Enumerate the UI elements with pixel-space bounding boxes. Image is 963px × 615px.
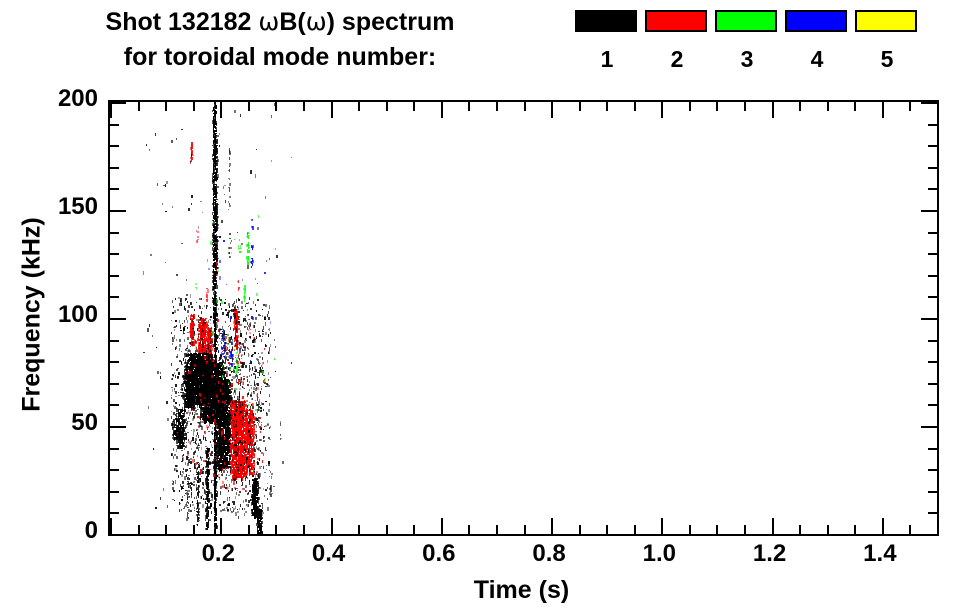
spectrogram-pixel <box>229 166 231 167</box>
spectrogram-pixel <box>213 240 215 243</box>
spectrogram-pixel <box>213 286 214 287</box>
spectrogram-pixel <box>213 146 214 148</box>
spectrogram-pixel <box>213 184 214 187</box>
spectrogram-pixel <box>239 239 240 241</box>
spectrogram-pixel <box>178 437 179 438</box>
spectrogram-pixel <box>267 498 268 499</box>
spectrogram-pixel <box>216 163 217 166</box>
spectrogram-pixel <box>245 404 246 405</box>
spectrogram-pixel <box>230 242 231 244</box>
spectrogram-pixel <box>216 201 217 202</box>
spectrogram-pixel <box>213 119 215 121</box>
spectrogram-pixel <box>248 235 250 239</box>
spectrogram-pixel <box>191 157 193 160</box>
spectrogram-pixel <box>208 325 210 326</box>
spectrogram-pixel <box>216 292 217 294</box>
spectrogram-pixel <box>213 226 215 229</box>
spectrogram-pixel <box>224 362 226 363</box>
spectrogram-pixel <box>240 251 241 253</box>
spectrogram-pixel <box>262 526 264 528</box>
spectrogram-pixel <box>257 227 258 230</box>
spectrogram-pixel <box>268 464 269 466</box>
spectrogram-pixel <box>188 513 189 514</box>
spectrogram-pixel <box>188 208 190 210</box>
spectrogram-pixel <box>191 154 193 157</box>
spectrogram-pixel <box>165 211 167 212</box>
spectrogram-pixel <box>214 430 216 431</box>
spectrogram-pixel <box>208 479 209 481</box>
spectrogram-pixel <box>199 359 200 362</box>
spectrogram-pixel <box>208 527 209 528</box>
spectrogram-pixel <box>217 204 219 206</box>
spectrogram-pixel <box>214 372 215 375</box>
spectrogram-pixel <box>188 475 190 476</box>
spectrogram-pixel <box>257 479 258 481</box>
spectrogram-pixel <box>186 445 187 448</box>
legend-label-mode-4: 4 <box>785 48 849 71</box>
spectrogram-pixel <box>235 414 236 417</box>
spectrogram-pixel <box>152 335 154 337</box>
spectrogram-pixel <box>216 170 218 172</box>
spectrogram-pixel <box>216 123 217 126</box>
spectrogram-pixel <box>207 467 209 470</box>
spectrogram-pixel <box>208 472 210 475</box>
spectrogram-pixel <box>217 240 219 242</box>
spectrogram-pixel <box>225 321 226 323</box>
spectrogram-pixel <box>197 240 198 242</box>
spectrogram-pixel <box>172 206 173 208</box>
spectrogram-pixel <box>217 469 218 472</box>
spectrogram-pixel <box>216 502 217 504</box>
spectrogram-pixel <box>188 517 189 519</box>
spectrogram-pixel <box>216 141 218 143</box>
spectrogram-pixel <box>193 452 194 455</box>
spectrogram-pixel <box>207 298 208 301</box>
spectrogram-pixel <box>179 509 180 512</box>
spectrogram-pixel <box>248 247 249 248</box>
spectrogram-pixel <box>271 493 273 494</box>
spectrogram-pixel <box>197 231 199 234</box>
spectrogram-pixel <box>229 178 230 180</box>
spectrogram-pixel <box>230 256 231 258</box>
spectrogram-pixel <box>214 178 215 181</box>
spectrogram-pixel <box>191 147 192 148</box>
spectrogram-pixel <box>185 493 186 494</box>
spectrogram-pixel <box>252 229 253 230</box>
spectrogram-pixel <box>213 312 214 313</box>
spectrogram-pixel <box>171 140 173 143</box>
spectrogram-pixel <box>217 159 218 162</box>
spectrogram-pixel <box>215 514 217 517</box>
spectrogram-pixel <box>217 177 218 178</box>
spectrogram-pixel <box>185 462 187 465</box>
spectrogram-pixel <box>238 473 240 475</box>
spectrogram-pixel <box>267 507 269 510</box>
plot-area <box>110 102 937 534</box>
spectrogram-pixel <box>186 299 187 300</box>
spectrogram-pixel <box>274 339 275 341</box>
spectrogram-pixel <box>224 194 225 196</box>
spectrogram-pixel <box>216 274 217 276</box>
spectrogram-pixel <box>244 318 245 321</box>
spectrogram-pixel <box>231 388 232 389</box>
spectrogram-pixel <box>198 520 199 521</box>
spectrogram-pixel <box>194 510 196 511</box>
spectrogram-pixel <box>198 320 199 323</box>
spectrogram-pixel <box>178 395 180 397</box>
spectrogram-pixel <box>238 516 239 519</box>
spectrogram-pixel <box>222 326 223 329</box>
spectrogram-pixel <box>176 274 178 276</box>
spectrogram-pixel <box>215 133 217 134</box>
spectrogram-pixel <box>237 232 238 233</box>
spectrogram-pixel <box>149 324 150 327</box>
spectrogram-pixel <box>231 379 233 381</box>
spectrogram-pixel <box>269 258 270 259</box>
spectrogram-pixel <box>265 196 266 199</box>
spectrogram-pixel <box>229 445 231 448</box>
spectrogram-pixel <box>197 239 198 240</box>
spectrogram-pixel <box>230 420 232 421</box>
spectrogram-pixel <box>177 437 178 440</box>
spectrogram-pixel <box>213 155 215 157</box>
spectrogram-pixel <box>167 418 169 421</box>
spectrogram-pixel <box>174 372 176 374</box>
spectrogram-pixel <box>188 507 190 508</box>
spectrogram-pixel <box>234 349 235 351</box>
spectrogram-pixel <box>196 488 197 491</box>
spectrogram-pixel <box>215 477 217 479</box>
spectrogram-pixel <box>153 448 154 450</box>
spectrogram-pixel <box>219 504 221 506</box>
spectrogram-pixel <box>188 305 190 309</box>
plot-frame <box>108 100 939 536</box>
spectrogram-pixel <box>254 352 256 353</box>
spectrogram-pixel <box>262 521 264 524</box>
spectrogram-pixel <box>268 409 270 412</box>
legend: 12345 <box>575 10 955 90</box>
spectrogram-pixel <box>216 181 217 183</box>
legend-item-mode-4: 4 <box>785 10 849 71</box>
spectrogram-pixel <box>212 447 214 448</box>
spectrogram-pixel <box>201 311 202 314</box>
spectrogram-pixel <box>143 352 145 353</box>
spectrogram-pixel <box>216 280 217 283</box>
spectrogram-pixel <box>263 440 265 442</box>
spectrogram-pixel <box>174 440 175 441</box>
spectrogram-pixel <box>219 297 220 300</box>
spectrogram-pixel <box>213 257 215 258</box>
spectrogram-pixel <box>150 254 152 256</box>
spectrogram-pixel <box>166 401 168 403</box>
spectrogram-pixel <box>217 525 218 526</box>
spectrogram-pixel <box>241 301 242 303</box>
spectrogram-pixel <box>182 407 184 410</box>
spectrogram-pixel <box>271 160 273 162</box>
spectrogram-pixel <box>240 420 241 421</box>
spectrogram-pixel <box>225 501 226 502</box>
spectrogram-pixel <box>217 249 219 250</box>
spectrogram-pixel <box>198 517 200 519</box>
spectrogram-pixel <box>217 186 219 188</box>
spectrogram-pixel <box>219 145 220 147</box>
spectrogram-pixel <box>180 325 181 328</box>
omega-symbol-1: ω <box>258 7 279 36</box>
spectrogram-pixel <box>229 153 230 155</box>
spectrogram-pixel <box>247 265 249 269</box>
spectrogram-pixel <box>175 414 177 416</box>
spectrogram-pixel <box>213 273 215 275</box>
spectrogram-pixel <box>216 517 217 520</box>
spectrogram-pixel <box>205 461 207 462</box>
spectrogram-pixel <box>194 324 196 326</box>
spectrogram-pixel <box>207 291 208 293</box>
spectrogram-pixel <box>217 135 218 137</box>
spectrogram-pixel <box>214 532 215 534</box>
spectrogram-pixel <box>213 259 214 261</box>
spectrogram-pixel <box>206 318 207 319</box>
spectrogram-pixel <box>266 345 267 347</box>
spectrogram-pixel <box>262 532 264 534</box>
spectrogram-pixel <box>216 192 218 194</box>
spectrogram-pixel <box>182 323 184 324</box>
spectrogram-pixel <box>160 372 161 374</box>
legend-label-mode-1: 1 <box>575 48 639 71</box>
spectrogram-pixel <box>213 163 215 166</box>
spectrogram-pixel <box>165 262 166 263</box>
spectrogram-pixel <box>200 201 202 202</box>
spectrogram-pixel <box>264 472 265 473</box>
spectrogram-pixel <box>247 384 249 386</box>
spectrogram-pixel <box>219 370 220 372</box>
spectrogram-pixel <box>224 185 225 186</box>
spectrogram-pixel <box>238 494 240 496</box>
spectrogram-pixel <box>260 427 262 430</box>
spectrogram-pixel <box>201 381 202 382</box>
spectrogram-pixel <box>192 144 193 146</box>
spectrogram-pixel <box>213 292 215 295</box>
spectrogram-pixel <box>149 149 151 151</box>
spectrogram-pixel <box>255 340 256 343</box>
spectrogram-pixel <box>236 330 237 331</box>
spectrogram-pixel <box>146 144 148 145</box>
spectrogram-pixel <box>280 421 282 424</box>
legend-item-mode-3: 3 <box>715 10 779 71</box>
spectrogram-pixel <box>234 110 236 113</box>
spectrogram-pixel <box>173 490 174 492</box>
legend-item-mode-5: 5 <box>855 10 919 71</box>
spectrogram-pixel <box>217 224 219 226</box>
spectrogram-pixel <box>222 411 223 413</box>
spectrogram-pixel <box>209 458 210 460</box>
spectrogram-pixel <box>229 196 230 199</box>
spectrogram-pixel <box>227 497 228 500</box>
spectrogram-pixel <box>190 353 191 356</box>
spectrogram-pixel <box>195 283 197 285</box>
spectrogram-pixel <box>165 184 166 187</box>
spectrogram-pixel <box>167 505 168 508</box>
spectrogram-pixel <box>175 320 177 321</box>
spectrogram-pixel <box>276 255 277 258</box>
legend-label-mode-5: 5 <box>855 48 919 71</box>
spectrogram-pixel <box>229 331 230 332</box>
spectrogram-pixel <box>216 305 218 307</box>
spectrogram-pixel <box>215 105 216 108</box>
spectrogram-pixel <box>176 425 177 427</box>
spectrogram-pixel <box>197 455 198 457</box>
spectrogram-pixel <box>186 294 188 296</box>
spectrogram-pixel <box>198 511 200 513</box>
spectrogram-pixel <box>216 268 217 271</box>
spectrogram-pixel <box>196 474 198 475</box>
spectrogram-pixel <box>179 303 181 306</box>
spectrogram-pixel <box>229 157 231 160</box>
spectrogram-pixel <box>216 498 217 501</box>
spectrogram-pixel <box>198 521 199 522</box>
spectrogram-pixel <box>209 519 211 522</box>
spectrogram-pixel <box>281 438 282 440</box>
spectrogram-pixel <box>181 243 183 245</box>
spectrogram-pixel <box>194 323 195 324</box>
spectrogram-pixel <box>238 289 239 291</box>
legend-swatch-mode-3 <box>715 10 777 32</box>
spectrogram-pixel <box>242 279 244 281</box>
spectrogram-pixel <box>214 432 216 434</box>
spectrogram-pixel <box>147 328 149 332</box>
spectrogram-pixel <box>187 310 188 312</box>
spectrogram-pixel <box>156 347 157 348</box>
spectrogram-pixel <box>217 258 218 259</box>
spectrogram-pixel <box>180 330 182 331</box>
legend-item-mode-1: 1 <box>575 10 639 71</box>
spectrogram-pixel <box>182 471 184 473</box>
spectrogram-pixel <box>221 220 223 223</box>
spectrogram-pixel <box>213 110 214 111</box>
spectrogram-pixel <box>193 481 195 483</box>
spectrogram-pixel <box>216 295 217 297</box>
spectrogram-pixel <box>249 381 251 382</box>
spectrogram-pixel <box>216 212 217 215</box>
spectrogram-pixel <box>178 428 179 431</box>
spectrogram-pixel <box>230 318 231 321</box>
spectrogram-pixel <box>262 508 264 509</box>
spectrogram-pixel <box>215 154 217 155</box>
spectrogram-pixel <box>162 203 163 205</box>
spectrogram-pixel <box>275 346 276 348</box>
chart-title-line1: Shot 132182 ωB(ω) spectrum <box>0 4 560 40</box>
spectrogram-pixel <box>226 398 227 399</box>
spectrogram-pixel <box>271 115 272 118</box>
spectrogram-pixel <box>198 494 199 498</box>
spectrogram-pixel <box>228 209 230 211</box>
spectrogram-pixel <box>241 243 243 244</box>
spectrogram-pixel <box>207 511 209 513</box>
spectrogram-pixel <box>253 345 255 347</box>
spectrogram-pixel <box>160 497 161 501</box>
spectrogram-pixel <box>208 515 209 517</box>
spectrogram-pixel <box>267 360 268 363</box>
spectrogram-pixel <box>253 436 255 440</box>
spectrogram-pixel <box>190 412 191 414</box>
spectrogram-pixel <box>196 413 198 415</box>
spectrogram-pixel <box>180 410 181 412</box>
spectrogram-pixel <box>248 250 250 253</box>
spectrogram-pixel <box>217 252 218 255</box>
spectrogram-pixel <box>157 371 158 374</box>
spectrogram-pixel <box>258 503 259 504</box>
chart-title-line2: for toroidal mode number: <box>0 40 560 75</box>
spectrogram-pixel <box>184 413 185 416</box>
spectrogram-pixel <box>257 283 258 284</box>
legend-swatch-mode-1 <box>575 10 637 32</box>
spectrogram-pixel <box>172 339 173 341</box>
spectrogram-pixel <box>213 113 215 114</box>
spectrogram-pixel <box>252 248 253 250</box>
spectrogram-pixel <box>189 389 190 391</box>
spectrogram-pixel <box>229 171 230 172</box>
spectrogram-pixel <box>193 432 194 435</box>
legend-item-mode-2: 2 <box>645 10 709 71</box>
spectrogram-pixel <box>240 245 241 247</box>
spectrogram-pixel <box>211 336 212 337</box>
spectrogram-pixel <box>243 500 244 503</box>
spectrogram-pixel <box>252 219 253 221</box>
spectrogram-pixel <box>222 444 223 446</box>
spectrogram-pixel <box>240 346 242 348</box>
spectrogram-pixel <box>270 490 272 492</box>
spectrogram-pixel <box>176 470 178 472</box>
spectrogram-pixel <box>197 236 199 238</box>
spectrogram-pixel <box>157 183 158 186</box>
spectrogram-pixel <box>235 361 236 363</box>
spectrogram-pixel <box>291 157 292 159</box>
spectrogram-pixel <box>218 360 219 361</box>
spectrogram-pixel <box>196 468 198 470</box>
spectrogram-pixel <box>250 308 251 309</box>
spectrogram-pixel <box>261 517 263 519</box>
spectrogram-pixel <box>251 355 253 356</box>
spectrogram-pixel <box>239 248 241 249</box>
spectrogram-pixel <box>181 351 182 352</box>
spectrogram-pixel <box>191 203 192 205</box>
spectrogram-pixel <box>229 346 231 348</box>
spectrogram-pixel <box>213 279 214 282</box>
spectrogram-pixel <box>229 190 230 192</box>
spectrogram-pixel <box>270 494 272 497</box>
spectrogram-pixel <box>235 446 236 448</box>
spectrogram-pixel <box>230 247 232 249</box>
spectrogram-pixel <box>179 404 180 407</box>
spectrogram-pixel <box>212 180 213 182</box>
spectrogram-pixel <box>166 181 168 184</box>
spectrogram-pixel <box>180 429 181 431</box>
spectrogram-pixel <box>246 400 247 402</box>
spectrogram-pixel <box>193 353 194 356</box>
spectrogram-pixel <box>244 513 245 515</box>
spectrogram-pixel <box>234 421 236 422</box>
spectrogram-pixel <box>198 226 199 229</box>
spectrogram-pixel <box>216 265 217 266</box>
spectrogram-pixel <box>208 489 209 492</box>
spectrogram-pixel <box>155 133 157 136</box>
legend-label-mode-2: 2 <box>645 48 709 71</box>
spectrogram-pixel <box>205 478 207 481</box>
spectrogram-pixel <box>213 136 214 137</box>
spectrogram-pixel <box>181 129 183 131</box>
spectrogram-pixel <box>196 302 197 303</box>
spectrogram-pixel <box>266 469 268 470</box>
spectrogram-pixel <box>190 302 192 304</box>
